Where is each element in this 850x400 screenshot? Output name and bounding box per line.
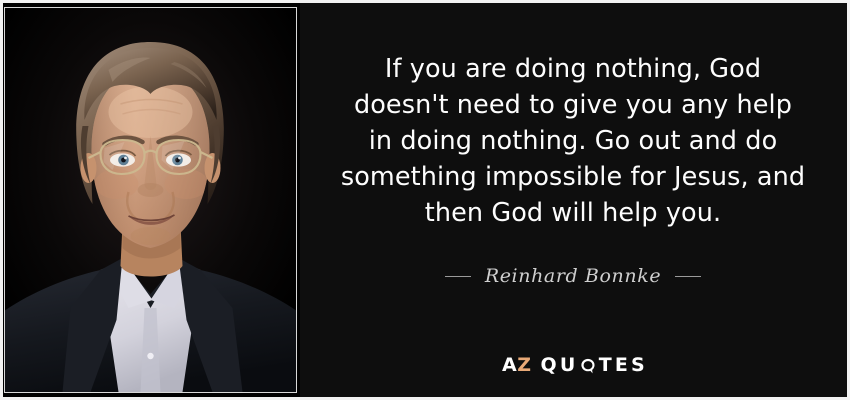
portrait-frame [4, 7, 297, 393]
quote-text: If you are doing nothing, God doesn't ne… [340, 51, 806, 231]
attribution-dash-left [445, 276, 471, 277]
brand-quotes-word: QU TES [541, 356, 648, 375]
speech-bubble-icon [580, 358, 596, 374]
brand-text-qu: QU [541, 356, 579, 375]
attribution: Reinhard Bonnke [340, 265, 806, 287]
brand-letter-a: A [502, 356, 517, 375]
brand-text-tes: TES [599, 356, 648, 375]
brand-az-mark: AZ [502, 356, 532, 375]
card-left-rail [0, 3, 3, 397]
author-portrait-photo [5, 8, 296, 392]
azquotes-logo[interactable]: AZ QU TES [300, 356, 850, 375]
quote-panel: If you are doing nothing, God doesn't ne… [300, 3, 850, 397]
quote-card: If you are doing nothing, God doesn't ne… [0, 0, 850, 400]
portrait-panel [0, 3, 300, 397]
brand-letter-z: Z [517, 356, 531, 375]
attribution-dash-right [675, 276, 701, 277]
attribution-author: Reinhard Bonnke [485, 265, 661, 287]
